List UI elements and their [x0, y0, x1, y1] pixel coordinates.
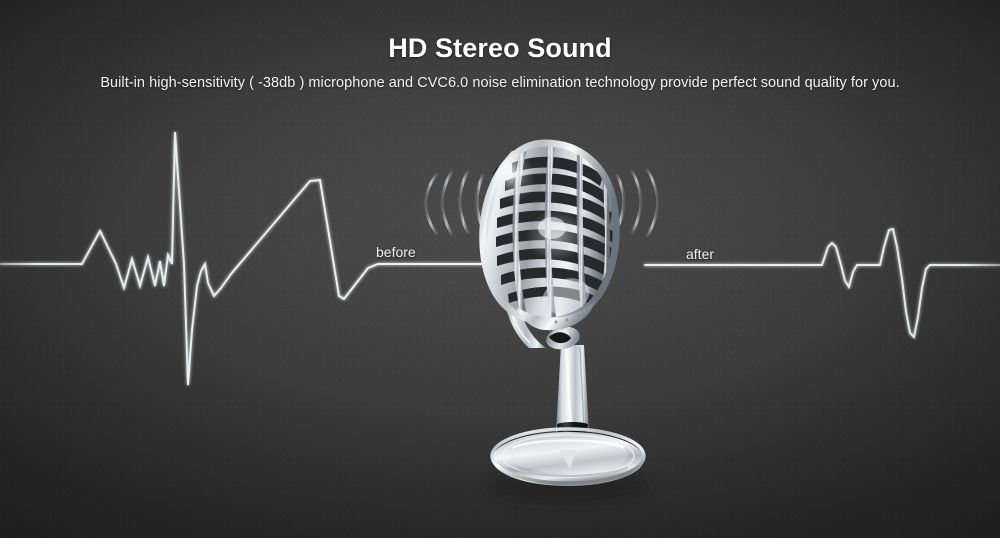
- waveform-label-before: before: [376, 244, 416, 260]
- hd-stereo-sound-banner: HD Stereo Sound Built-in high-sensitivit…: [0, 0, 1000, 538]
- page-title: HD Stereo Sound: [0, 33, 1000, 64]
- page-subtitle: Built-in high-sensitivity ( -38db ) micr…: [0, 75, 1000, 91]
- waveform-label-after: after: [686, 246, 714, 262]
